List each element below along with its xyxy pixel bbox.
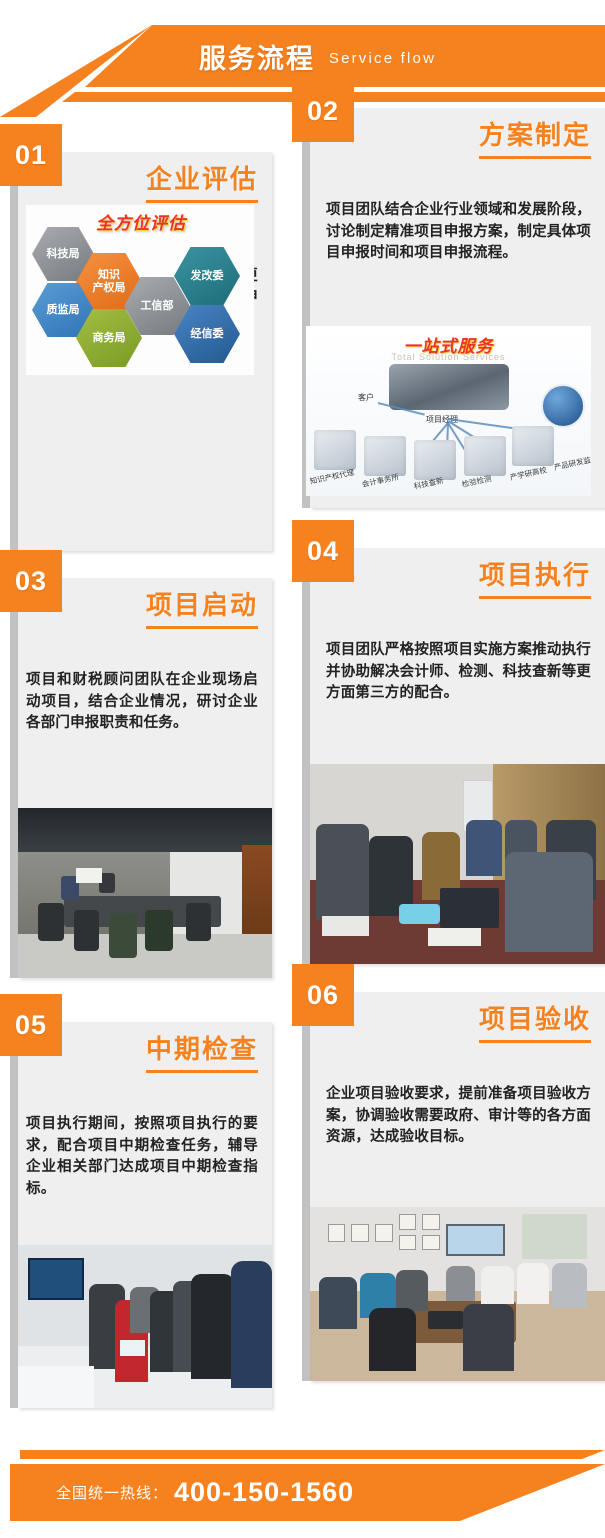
service-caption: 产学研高校 [509, 464, 548, 483]
conference-room-photo [18, 808, 272, 978]
step-card-02[interactable]: 02 方案制定 项目团队结合企业行业领域和发展阶段，讨论制定精准项目申报方案，制… [292, 108, 605, 508]
card-title: 项目验收 [479, 1002, 591, 1036]
card-title-group: 项目启动 [146, 588, 258, 629]
card-title-group: 企业评估 [146, 162, 258, 203]
hotline-number[interactable]: 400-150-1560 [174, 1477, 354, 1508]
service-node-university [512, 426, 554, 466]
step-number-badge: 04 [292, 520, 354, 582]
service-node-accounting [364, 436, 406, 476]
card-title-group: 项目验收 [479, 1002, 591, 1043]
service-flow-infographic: 服务流程 Service flow 01 企业评估 项目团队拥有10年以上服务经… [0, 0, 605, 1538]
service-node-research [414, 440, 456, 480]
title-underline [146, 200, 258, 203]
step-number-badge: 06 [292, 964, 354, 1026]
page-subtitle: Service flow [329, 50, 436, 67]
card-description: 项目团队结合企业行业领域和发展阶段，讨论制定精准项目申报方案，制定具体项目申报时… [326, 200, 591, 265]
card-title: 中期检查 [146, 1032, 258, 1066]
card-title-group: 中期检查 [146, 1032, 258, 1073]
card-description: 企业项目验收要求，提前准备项目验收方案，协调验收需要政府、审计等的各方面资源，达… [326, 1084, 591, 1149]
service-hub-photo [389, 364, 509, 410]
card-rail [10, 578, 18, 978]
one-stop-service-diagram: 一站式服务 Total Solution Services 客户 项目经理 知识… [306, 326, 591, 496]
hotline-group: 全国统一热线： 400-150-1560 [56, 1464, 354, 1521]
step-number-badge: 05 [0, 994, 62, 1056]
hex-chart-title: 全方位评估 [96, 209, 186, 234]
page-title: 服务流程 [199, 37, 315, 76]
service-client-label: 客户 [358, 392, 374, 403]
title-underline [479, 156, 591, 159]
card-title-group: 方案制定 [479, 118, 591, 159]
step-number-badge: 03 [0, 550, 62, 612]
card-description: 项目执行期间，按照项目执行的要求，配合项目中期检查任务，辅导企业相关部门达成项目… [26, 1114, 258, 1200]
card-title: 项目执行 [479, 558, 591, 592]
service-caption: 产品研发监督 [553, 453, 591, 473]
page-footer: 全国统一热线： 400-150-1560 [0, 1418, 605, 1538]
card-title: 企业评估 [146, 162, 258, 196]
title-underline [479, 596, 591, 599]
header-title-group: 服务流程 Service flow [0, 25, 605, 87]
card-rail [302, 548, 310, 964]
card-description: 项目团队严格按照项目实施方案推动执行并协助解决会计师、检测、科技查新等更方面第三… [326, 640, 591, 705]
title-underline [479, 1040, 591, 1043]
hexagon-assessment-chart: 全方位评估 科技局 知识 产权局 质监局 商务局 工信部 发改委 经信委 [26, 205, 254, 375]
service-node-testing [464, 436, 506, 476]
card-title: 项目启动 [146, 588, 258, 622]
service-diagram-subtitle: Total Solution Services [391, 352, 505, 362]
hotline-label: 全国统一热线： [56, 1482, 168, 1503]
card-title-group: 项目执行 [479, 558, 591, 599]
footer-orange-stripe [20, 1450, 605, 1459]
title-underline [146, 626, 258, 629]
service-node-ip [314, 430, 356, 470]
card-rail [10, 1022, 18, 1408]
showroom-visit-photo [18, 1245, 272, 1408]
title-underline [146, 1070, 258, 1073]
card-rail [10, 152, 18, 551]
acceptance-meeting-photo [310, 1207, 605, 1381]
card-title: 方案制定 [479, 118, 591, 152]
card-description: 项目和财税顾问团队在企业现场启动项目，结合企业情况，研讨企业各部门申报职责和任务… [26, 670, 258, 735]
working-meeting-photo [310, 764, 605, 964]
step-number-badge: 02 [292, 80, 354, 142]
step-number-badge: 01 [0, 124, 62, 186]
certification-seal-icon [541, 384, 585, 428]
card-rail [302, 992, 310, 1381]
